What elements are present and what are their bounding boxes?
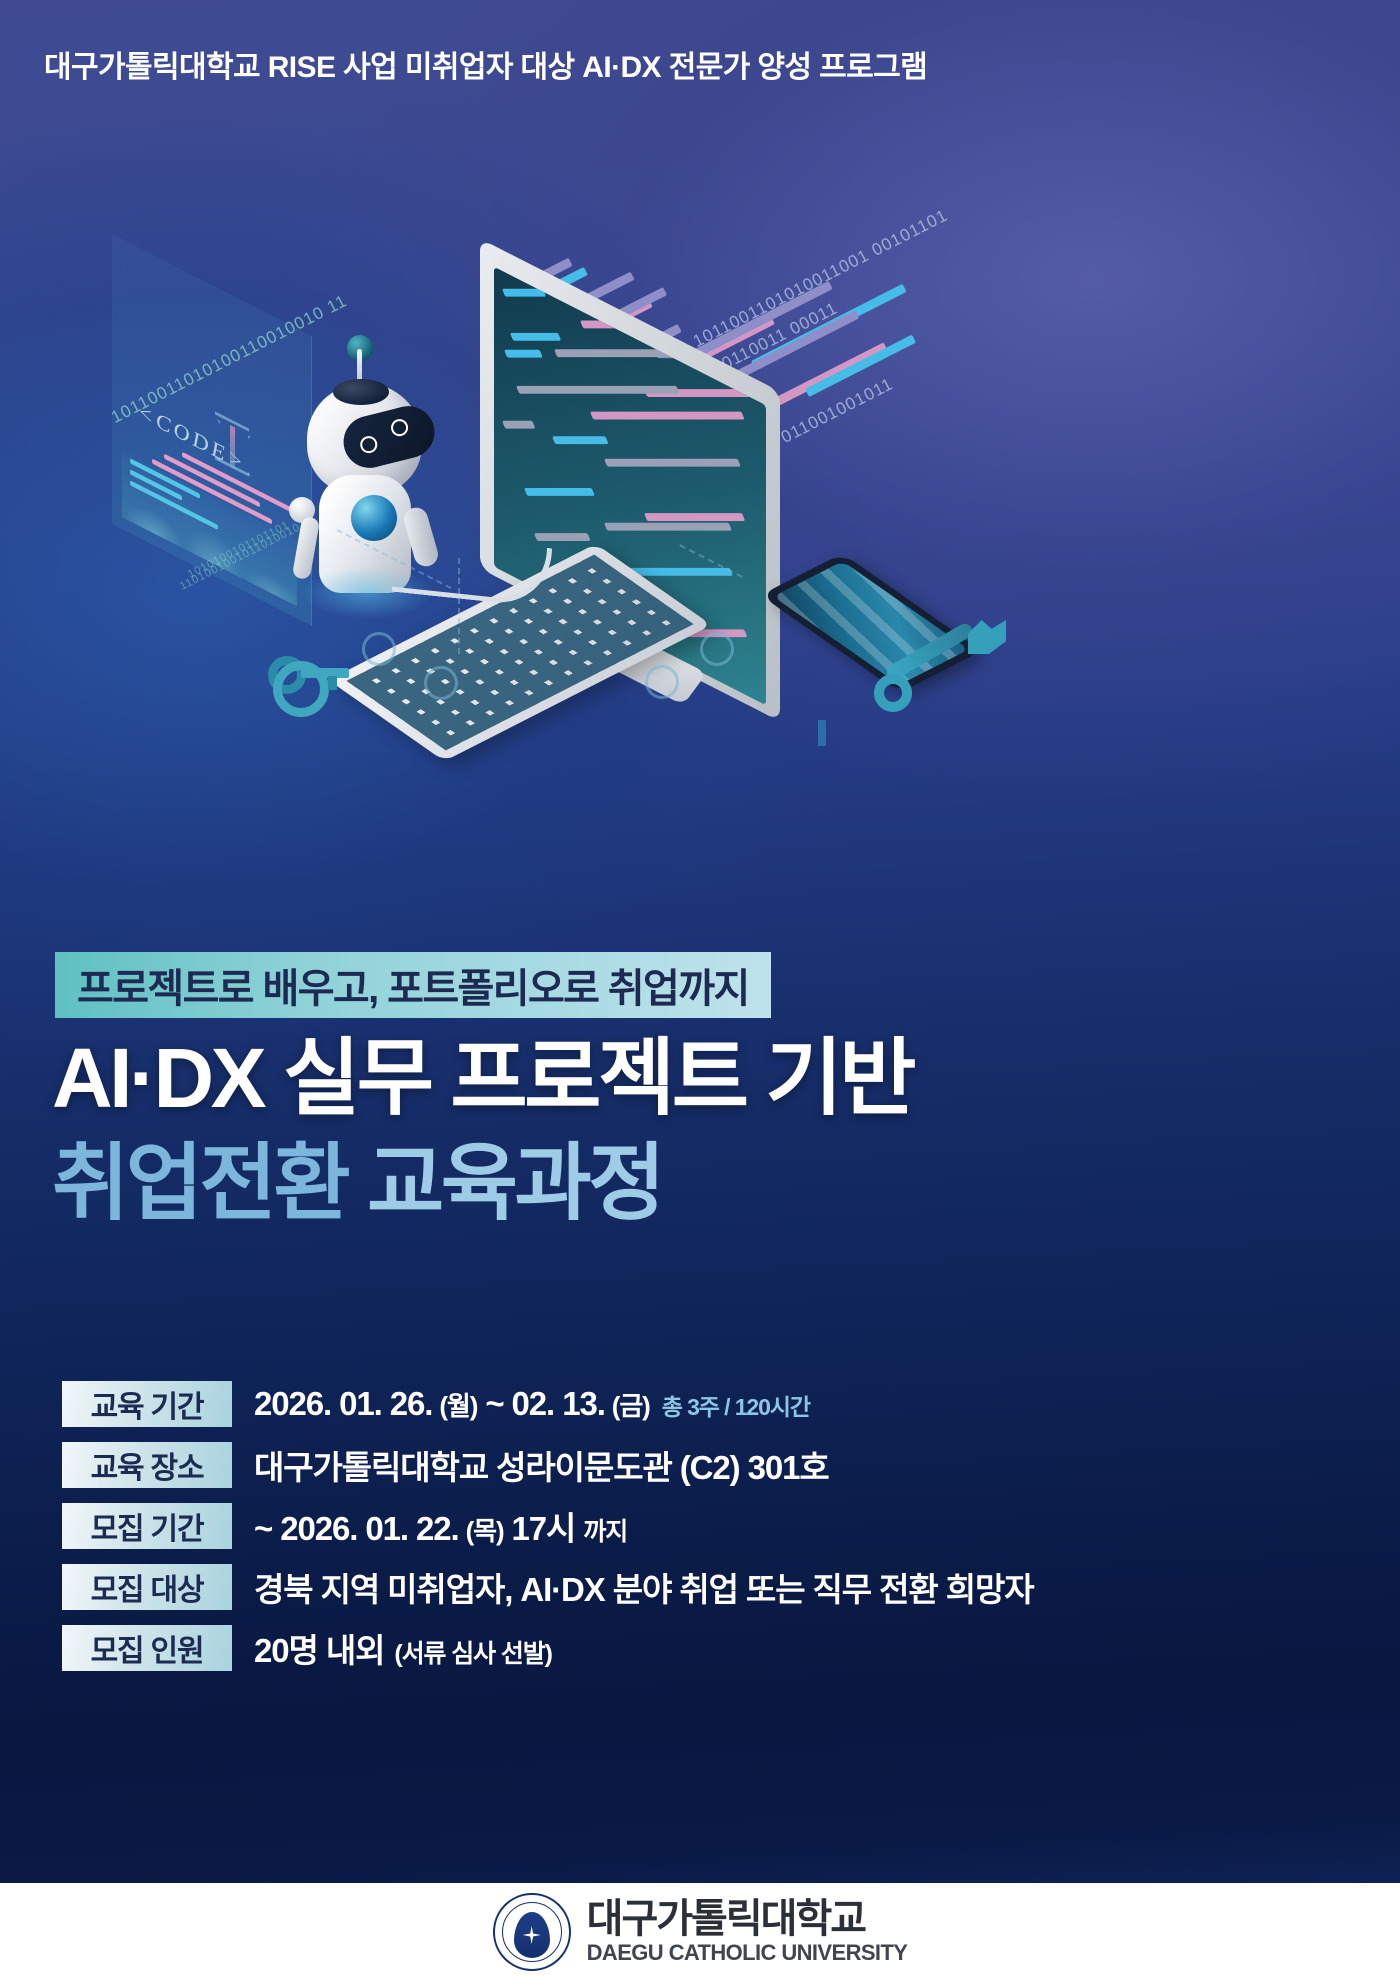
network-node (645, 665, 679, 699)
info-row-capacity: 모집 인원 20명 내외 (서류 심사 선발) (62, 1624, 1342, 1672)
info-value: ~ 2026. 01. 22. (목) 17시 까지 (254, 1502, 629, 1550)
cube-icon (795, 665, 849, 719)
key-icon (268, 652, 350, 698)
subtitle-text: 프로젝트로 배우고, 포트폴리오로 취업까지 (77, 956, 749, 1014)
info-row-application-period: 모집 기간 ~ 2026. 01. 22. (목) 17시 까지 (62, 1502, 1342, 1550)
info-label: 모집 기간 (62, 1503, 232, 1549)
robot-antenna (357, 349, 362, 383)
info-label: 교육 기간 (62, 1381, 232, 1427)
deadline-date: ~ 2026. 01. 22. (254, 1510, 459, 1548)
poster-root: 대구가톨릭대학교 RISE 사업 미취업자 대상 AI·DX 전문가 양성 프로… (0, 0, 1400, 1981)
period-end: ~ 02. 13. (485, 1385, 604, 1423)
network-node (700, 632, 734, 666)
capacity-count: 20명 내외 (254, 1624, 384, 1672)
cube-icon (788, 738, 842, 792)
deadline-suffix: 까지 (583, 1512, 627, 1548)
period-start-day: (월) (439, 1386, 477, 1423)
info-value: 경북 지역 미취업자, AI·DX 분야 취업 또는 직무 전환 희망자 (254, 1563, 1033, 1611)
program-header: 대구가톨릭대학교 RISE 사업 미취업자 대상 AI·DX 전문가 양성 프로… (44, 42, 1144, 86)
info-label: 교육 장소 (62, 1442, 232, 1488)
robot-arm-left (292, 516, 320, 580)
subtitle-banner: 프로젝트로 배우고, 포트폴리오로 취업까지 (55, 952, 771, 1018)
title-accent: 취업전환 (52, 1136, 347, 1230)
robot-head-top (333, 379, 389, 405)
title-line-1: AI·DX 실무 프로젝트 기반 (52, 1035, 1372, 1122)
info-table: 교육 기간 2026. 01. 26. (월) ~ 02. 13. (금) 총 … (62, 1380, 1342, 1685)
period-end-day: (금) (612, 1386, 650, 1423)
deadline-day: (목) (466, 1511, 504, 1548)
deadline-time: 17시 (512, 1502, 576, 1550)
robot-eye-right (389, 417, 410, 438)
info-label: 모집 대상 (62, 1564, 232, 1610)
capacity-note: (서류 심사 선발) (394, 1634, 552, 1670)
info-row-education-period: 교육 기간 2026. 01. 26. (월) ~ 02. 13. (금) 총 … (62, 1380, 1342, 1428)
network-link (458, 558, 460, 654)
title-bright: 교육과정 (367, 1136, 662, 1230)
period-start: 2026. 01. 26. (254, 1385, 432, 1423)
period-note: 총 3주 / 120시간 (662, 1388, 810, 1422)
info-row-location: 교육 장소 대구가톨릭대학교 성라이문도관 (C2) 301호 (62, 1441, 1342, 1489)
footer-logo-bar: 대구가톨릭대학교 DAEGU CATHOLIC UNIVERSITY (0, 1883, 1400, 1981)
network-node (424, 666, 458, 700)
university-name-en: DAEGU CATHOLIC UNIVERSITY (587, 1940, 908, 1966)
info-label: 모집 인원 (62, 1625, 232, 1671)
info-value: 20명 내외 (서류 심사 선발) (254, 1624, 554, 1672)
university-crest-icon (493, 1893, 571, 1971)
robot-core-light (351, 495, 397, 541)
title-line-2: 취업전환 교육과정 (52, 1140, 1372, 1227)
info-row-target: 모집 대상 경북 지역 미취업자, AI·DX 분야 취업 또는 직무 전환 희… (62, 1563, 1342, 1611)
info-value: 대구가톨릭대학교 성라이문도관 (C2) 301호 (254, 1441, 829, 1489)
network-node (362, 632, 396, 666)
info-value: 2026. 01. 26. (월) ~ 02. 13. (금) 총 3주 / 1… (254, 1385, 810, 1423)
university-name-block: 대구가톨릭대학교 DAEGU CATHOLIC UNIVERSITY (587, 1898, 908, 1966)
hero-illustration: <CODE> 10110011010100110010010 11 101100… (0, 120, 1400, 720)
robot-eye-left (358, 434, 379, 455)
university-name-ko: 대구가톨릭대학교 (587, 1898, 908, 1940)
wrench-icon (872, 628, 1002, 718)
